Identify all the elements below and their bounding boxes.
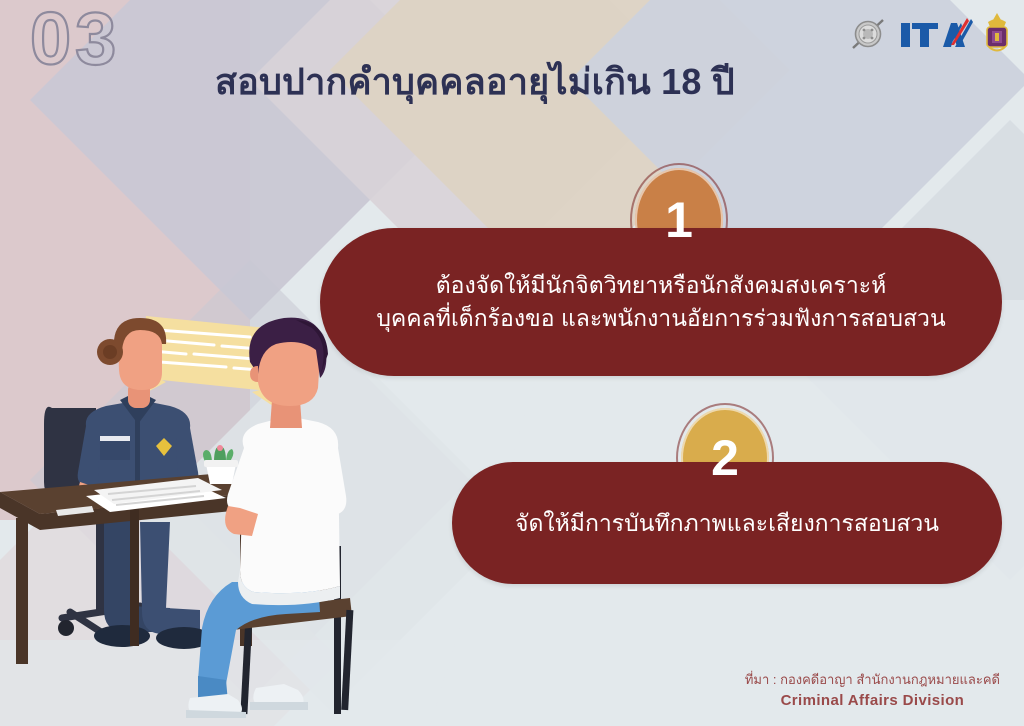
card-2-line-1: จัดให้มีการบันทึกภาพและเสียงการสอบสวน — [515, 507, 939, 540]
footer-source-text: ที่มา : กองคดีอาญา สำนักงานกฎหมายและคดี — [745, 671, 1000, 690]
card-1-line-1: ต้องจัดให้มีนักจิตวิทยาหรือนักสังคมสงเคร… — [436, 269, 887, 302]
logo-bar — [846, 8, 1012, 60]
royal-silver-emblem-icon — [846, 12, 890, 56]
footer-division-text: Criminal Affairs Division — [745, 690, 1000, 712]
badge-1-number: 1 — [665, 195, 693, 245]
footer-credit: ที่มา : กองคดีอาญา สำนักงานกฎหมายและคดี … — [745, 671, 1000, 712]
badge-2-number: 2 — [711, 433, 739, 483]
card-1-line-2: บุคคลที่เด็กร้องขอ และพนักงานอัยการร่วมฟ… — [376, 302, 945, 335]
ita-wordmark-icon — [899, 14, 973, 54]
royal-crest-icon — [982, 12, 1012, 56]
page-title: สอบปากคำบุคคลอายุไม่เกิน 18 ปี — [215, 54, 835, 108]
content-card-1: ต้องจัดให้มีนักจิตวิทยาหรือนักสังคมสงเคร… — [320, 228, 1002, 376]
infographic-canvas: 03 สอบปากคำบุคคลอายุไม่เกิน 18 ปี — [0, 0, 1024, 726]
police-interview-illustration — [0, 296, 400, 726]
